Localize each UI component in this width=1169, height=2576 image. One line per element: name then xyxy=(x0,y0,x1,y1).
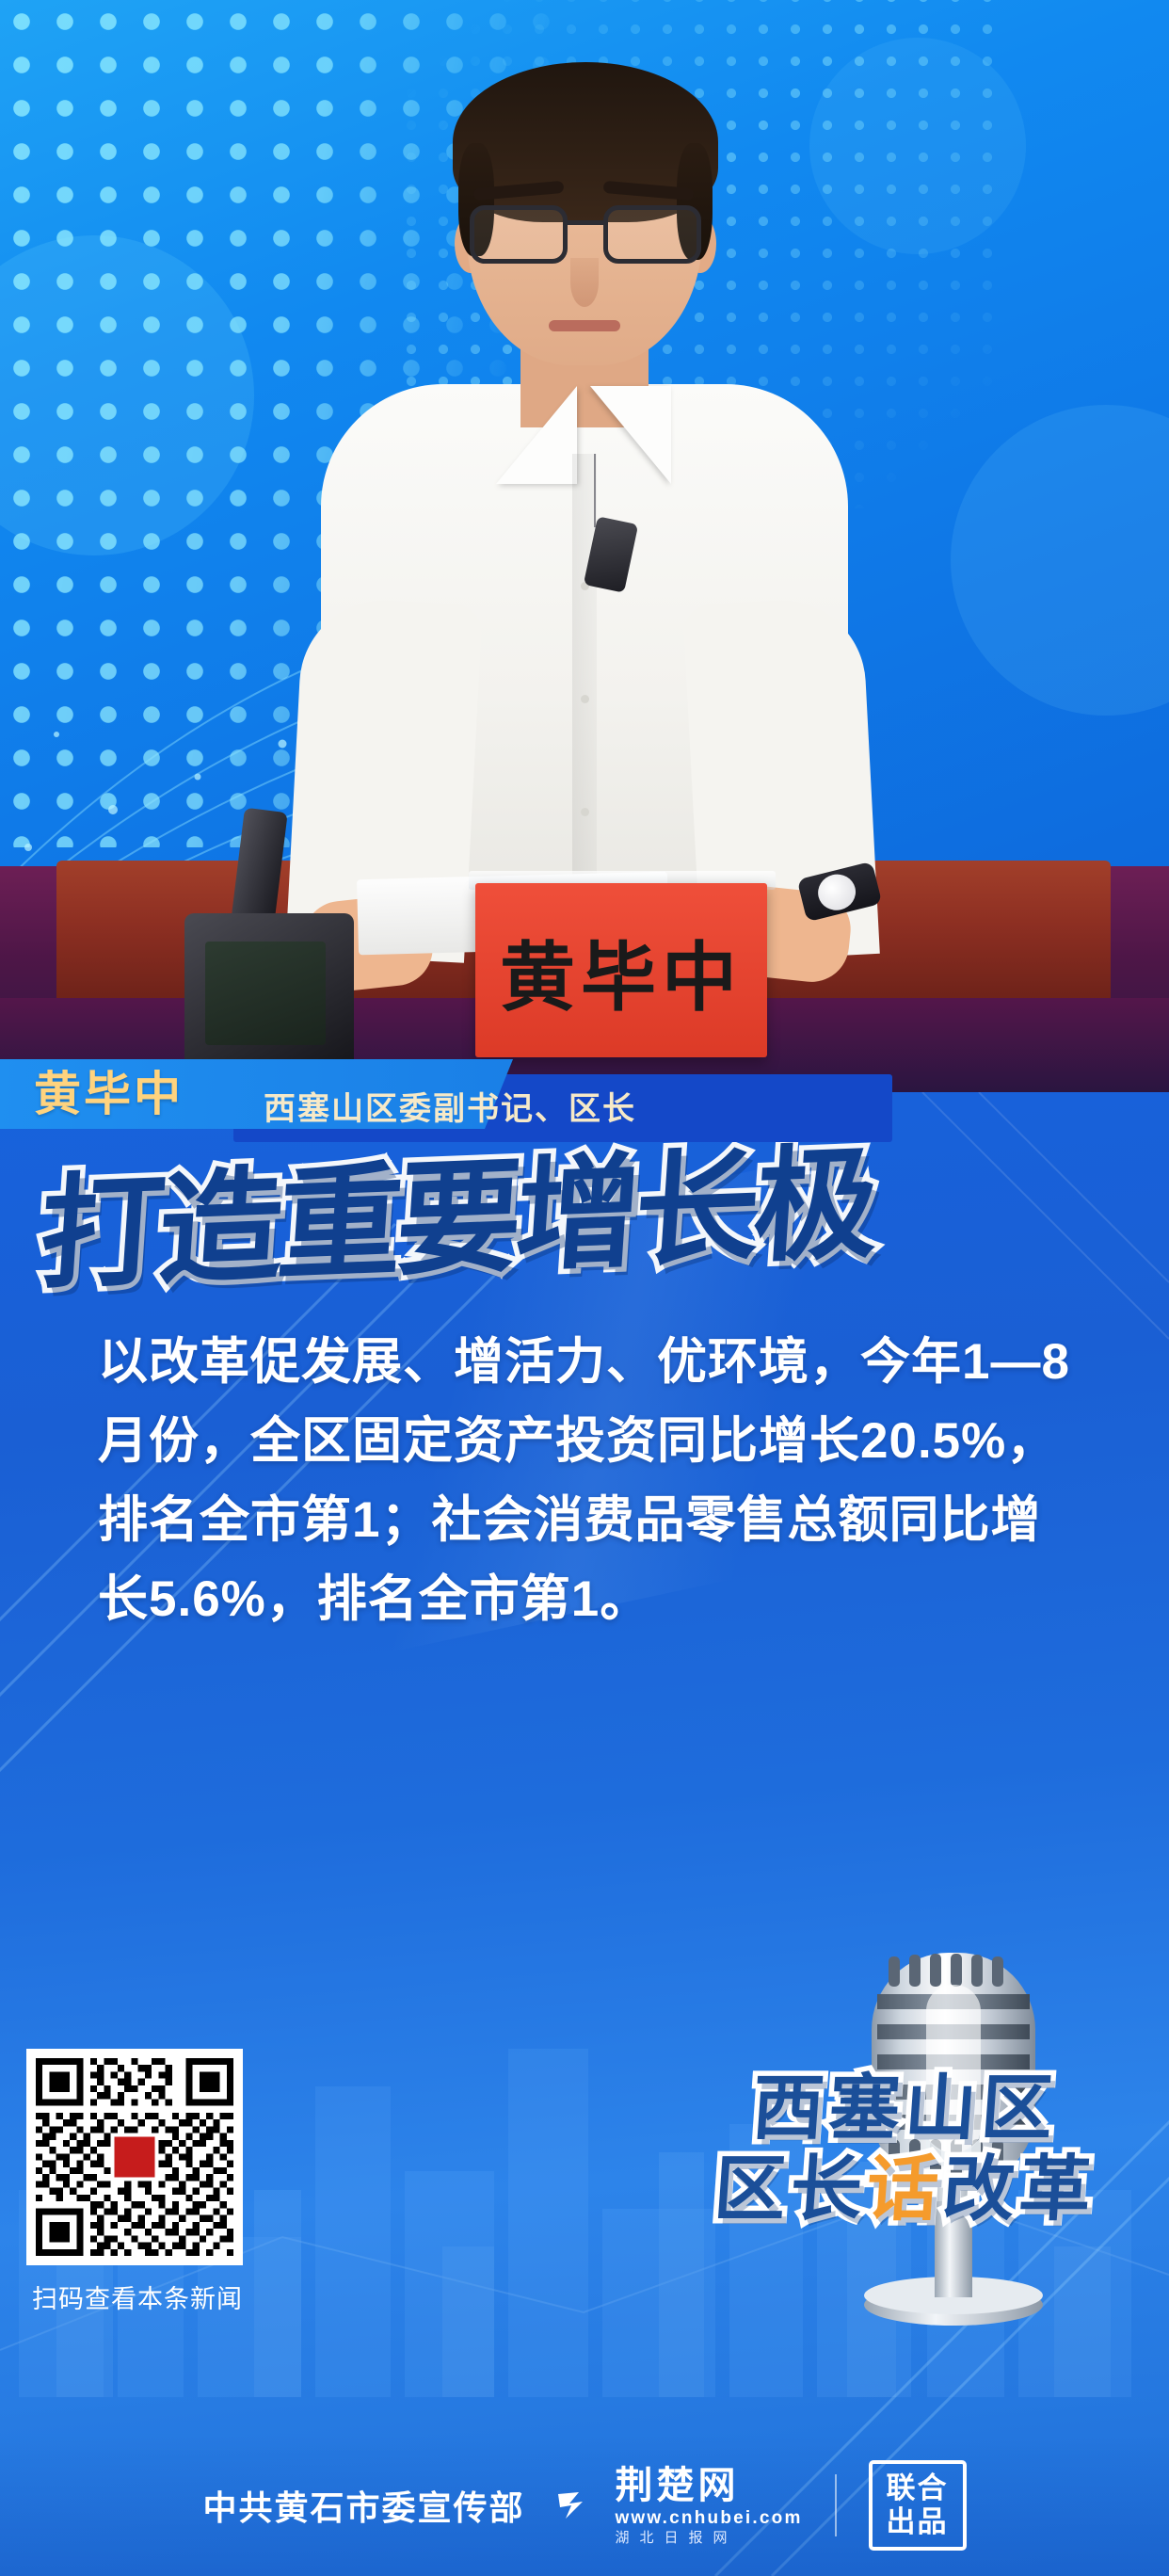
desk-nameplate: 黄毕中 xyxy=(475,883,767,1057)
desk-nameplate-text: 黄毕中 xyxy=(475,917,767,1026)
lens-right xyxy=(603,205,701,264)
footer-media-name: 荆楚网 xyxy=(615,2467,802,2504)
program-slogan: 西塞山区 区长话改革 xyxy=(714,2068,1096,2230)
shirt-button xyxy=(581,695,589,703)
speaker-photo: 黄毕中 xyxy=(0,0,1169,1092)
footer-media-logo: 荆楚网 www.cnhubei.com 湖北日报网 xyxy=(556,2467,802,2545)
nose xyxy=(570,258,599,307)
lens-left xyxy=(470,205,568,264)
headline: 打造重要增长极 xyxy=(0,1130,1169,1309)
speaker-name: 黄毕中 xyxy=(34,1067,184,1121)
footer-media-url: www.cnhubei.com xyxy=(615,2509,802,2527)
qr-block[interactable]: 扫码查看本条新闻 xyxy=(26,2049,269,2315)
glasses-bridge xyxy=(568,220,603,225)
qr-code-matrix xyxy=(36,2058,233,2256)
body-text: 以改革促发展、增活力、优环境，今年1—8月份，全区固定资产投资同比增长20.5%… xyxy=(98,1323,1086,1639)
watch-face xyxy=(814,870,859,914)
slogan-line-1: 西塞山区 xyxy=(712,2068,1098,2149)
document-camera-icon xyxy=(184,829,354,1073)
poster-root: 黄毕中 xyxy=(0,0,1169,2576)
slogan-line-2-highlight: 话 xyxy=(864,2147,946,2230)
content-background xyxy=(0,1092,1169,2576)
footer-media-text: 荆楚网 www.cnhubei.com 湖北日报网 xyxy=(615,2467,802,2545)
headline-text: 打造重要增长极 xyxy=(36,1141,877,1297)
cnhubei-bird-icon xyxy=(556,2487,605,2524)
slogan-line-2-part-a: 区长 xyxy=(712,2147,870,2230)
slogan-line-2: 区长话改革 xyxy=(712,2149,1098,2230)
footer-media-sub: 湖北日报网 xyxy=(615,2531,802,2545)
qr-caption: 扫码查看本条新闻 xyxy=(26,2278,269,2315)
decor-diagonal-lines xyxy=(0,1092,1169,2576)
glasses-icon xyxy=(470,205,701,264)
footer-joint-stamp: 联合 出品 xyxy=(869,2460,967,2551)
speaker-name-banner: 黄毕中 西塞山区委副书记、区长 xyxy=(0,1059,659,1129)
lapel-mic-wire xyxy=(594,454,596,527)
footer-stamp-line-2: 出品 xyxy=(887,2505,949,2539)
footer-divider xyxy=(835,2474,837,2536)
collar-left xyxy=(496,386,577,484)
footer: 中共黄石市委宣传部 荆楚网 www.cnhubei.com 湖北日报网 联合 出… xyxy=(0,2435,1169,2576)
speaker-role: 西塞山区委副书记、区长 xyxy=(264,1087,636,1131)
collar-right xyxy=(590,386,671,484)
footer-stamp-line-1: 联合 xyxy=(887,2471,949,2505)
cnhubei-mark-icon xyxy=(556,2487,605,2524)
slogan-line-2-part-b: 改革 xyxy=(940,2147,1098,2230)
mouth xyxy=(549,320,620,331)
qr-code-icon[interactable] xyxy=(26,2049,243,2265)
footer-organizer: 中共黄石市委宣传部 xyxy=(202,2481,524,2530)
shirt-button xyxy=(581,808,589,816)
document-camera-screen xyxy=(205,942,326,1045)
